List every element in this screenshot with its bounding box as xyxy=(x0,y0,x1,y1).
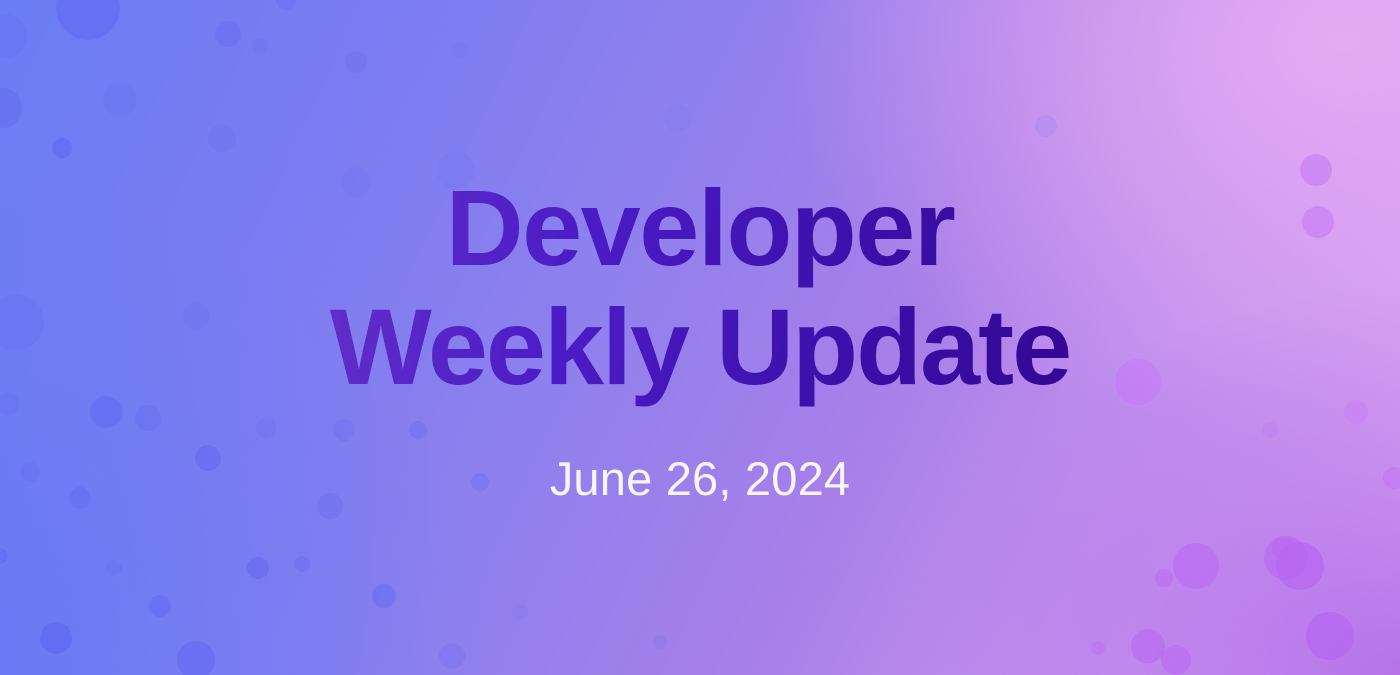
page-title: Developer Weekly Update xyxy=(320,169,1080,413)
headline-line-1: Developer xyxy=(330,169,1070,288)
banner-content: Developer Weekly Update June 26, 2024 xyxy=(0,0,1400,675)
headline-line-2: Weekly Update xyxy=(330,288,1070,407)
developer-weekly-update-banner: Developer Weekly Update June 26, 2024 xyxy=(0,0,1400,675)
issue-date: June 26, 2024 xyxy=(550,451,851,506)
